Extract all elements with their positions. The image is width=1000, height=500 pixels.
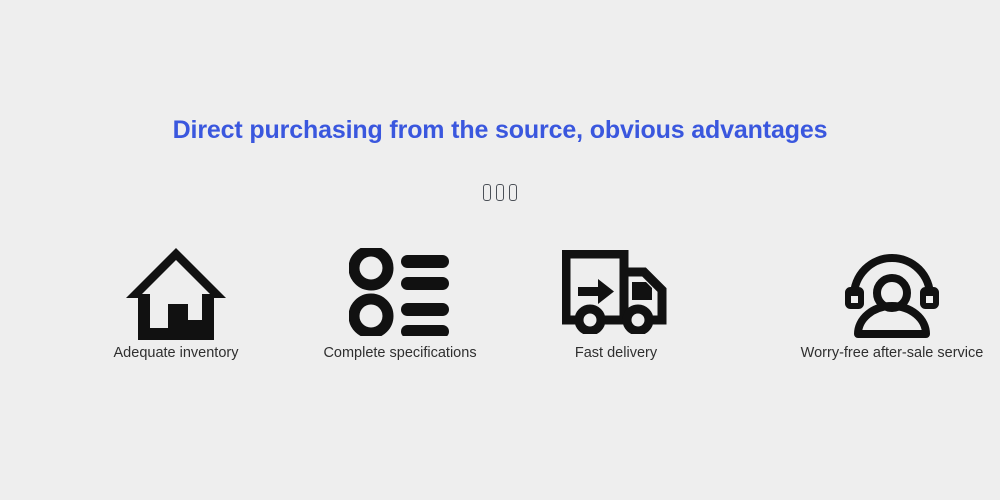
headset-support-agent-icon [844,240,940,344]
warehouse-inventory-icon [124,240,228,344]
feature-item-complete-specifications: Complete specifications [352,240,448,362]
feature-label: Adequate inventory [114,344,239,362]
pill-outline-icon [496,184,504,201]
feature-label: Worry-free after-sale service [801,344,984,362]
page-title: Direct purchasing from the source, obvio… [0,114,1000,146]
pill-outline-icon [509,184,517,201]
delivery-truck-icon [562,240,670,344]
specification-list-icon [349,240,451,344]
advantages-banner: Direct purchasing from the source, obvio… [0,0,1000,500]
feature-label: Fast delivery [575,344,657,362]
feature-item-fast-delivery: Fast delivery [448,240,784,362]
feature-list: Adequate inventory Complete specificatio… [0,240,1000,362]
pill-outline-icon [483,184,491,201]
feature-item-adequate-inventory: Adequate inventory [0,240,352,362]
feature-item-after-sale-service: Worry-free after-sale service [784,240,1000,362]
separator [0,184,1000,201]
